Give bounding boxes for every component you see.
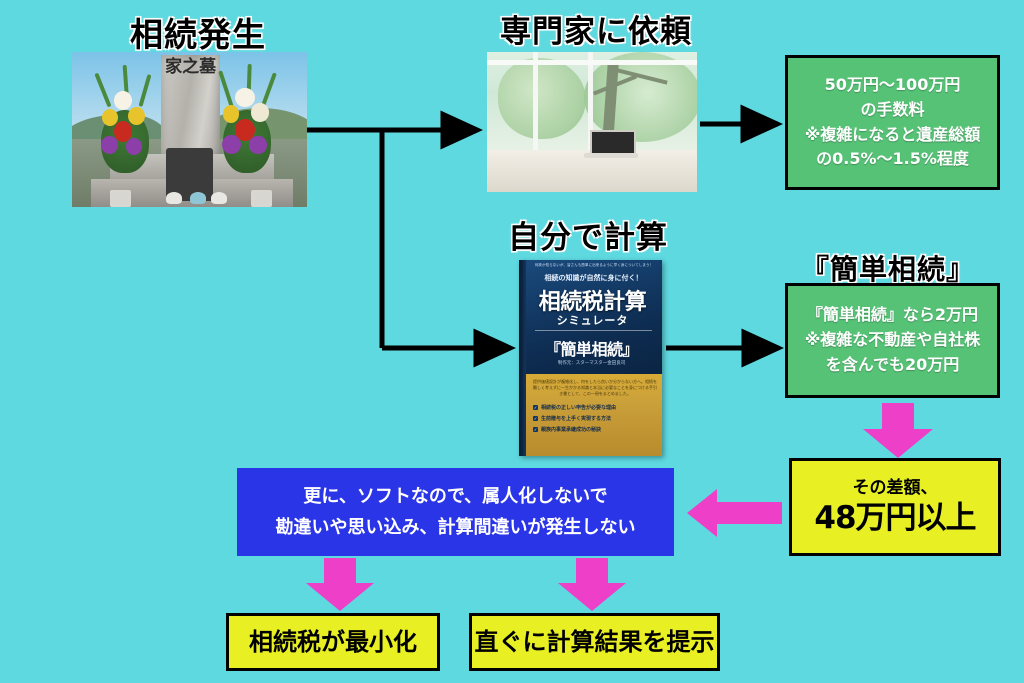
flower-arrangement-left <box>98 86 152 173</box>
gravestone-photo: 家之墓 <box>72 52 307 207</box>
kantan-price-line-1: 『簡単相続』なら2万円 <box>807 303 978 328</box>
expert-fee-line-3: ※複雑になると遺産総額 <box>805 123 981 148</box>
book-author: 制作元：スターマスター金田良司 <box>523 360 660 366</box>
book-bullet-1: ✓相続税の正しい申告が必要な理由 <box>533 404 657 411</box>
expert-fee-line-1: 50万円〜100万円 <box>825 73 961 98</box>
magenta-arrow-down-software-to-instant <box>556 558 628 612</box>
check-icon: ✓ <box>533 405 538 410</box>
heading-kantan-souzoku: 『簡単相続』 <box>801 248 975 288</box>
instant-result-box: 直ぐに計算結果を提示 <box>469 613 720 671</box>
book-simulator: シミュレータ <box>525 312 660 328</box>
book-subtitle: 相続の知識が自然に身に付く！ <box>527 273 660 283</box>
book-bullet-2: ✓生前贈与を上手く実現する方法 <box>533 415 657 422</box>
software-benefit-line-1: 更に、ソフトなので、属人化しないで <box>303 481 607 513</box>
software-benefit-box: 更に、ソフトなので、属人化しないで 勘違いや思い込み、計算間違いが発生しない <box>237 468 674 556</box>
heading-inheritance-occurs: 相続発生 <box>130 8 266 56</box>
kantan-price-box: 『簡単相続』なら2万円 ※複雑な不動産や自社株 を含んでも20万円 <box>785 283 1000 398</box>
check-icon: ✓ <box>533 427 538 432</box>
gravestone-inscription: 家之墓 <box>161 59 220 77</box>
kantan-price-line-2: ※複雑な不動産や自社株 <box>805 328 981 353</box>
book-bullet-3: ✓親族内事業承継成功の秘訣 <box>533 426 657 433</box>
difference-small-line: その差額、 <box>853 477 938 499</box>
kantan-price-line-3: を含んでも20万円 <box>826 353 959 378</box>
book-cover-kantan-souzoku: 何故か知らないが、皆さんも簡単に出来るように早く身についてしまう！ 相続の知識が… <box>519 260 662 456</box>
heading-calculate-yourself: 自分で計算 <box>508 212 668 257</box>
book-kicker: 何故か知らないが、皆さんも簡単に出来るように早く身についてしまう！ <box>529 263 659 267</box>
flower-arrangement-right <box>220 86 274 173</box>
expert-fee-line-4: の0.5%〜1.5%程度 <box>816 147 969 172</box>
book-brand: 『簡単相続』 <box>523 336 660 360</box>
magenta-arrow-down-kantan-to-difference <box>861 403 935 459</box>
heading-ask-expert: 専門家に依頼 <box>500 6 692 51</box>
expert-consultation-photo <box>487 52 697 192</box>
instant-result-label: 直ぐに計算結果を提示 <box>475 628 715 657</box>
laptop-base <box>584 153 639 159</box>
diagram-canvas: 相続発生 専門家に依頼 自分で計算 『簡単相続』 家之墓 <box>0 0 1024 683</box>
software-benefit-line-2: 勘違いや思い込み、計算間違いが発生しない <box>276 512 636 544</box>
difference-big-line: 48万円以上 <box>814 499 975 538</box>
minimize-tax-label: 相続税が最小化 <box>249 628 417 657</box>
minimize-tax-box: 相続税が最小化 <box>226 613 440 671</box>
expert-fee-line-2: の手数料 <box>860 98 924 123</box>
gravestone: 家之墓 <box>161 55 220 157</box>
difference-box: その差額、 48万円以上 <box>789 458 1001 556</box>
magenta-arrow-down-software-to-minimize <box>304 558 376 612</box>
check-icon: ✓ <box>533 416 538 421</box>
book-gold-paragraph: 提供価値設計が複雑化し、何をしたら良いか分からない方へ。相続を難しく考えずに一生… <box>532 379 658 397</box>
magenta-arrow-left-difference-to-software <box>686 487 782 539</box>
expert-fee-box: 50万円〜100万円 の手数料 ※複雑になると遺産総額 の0.5%〜1.5%程度 <box>785 55 1000 190</box>
